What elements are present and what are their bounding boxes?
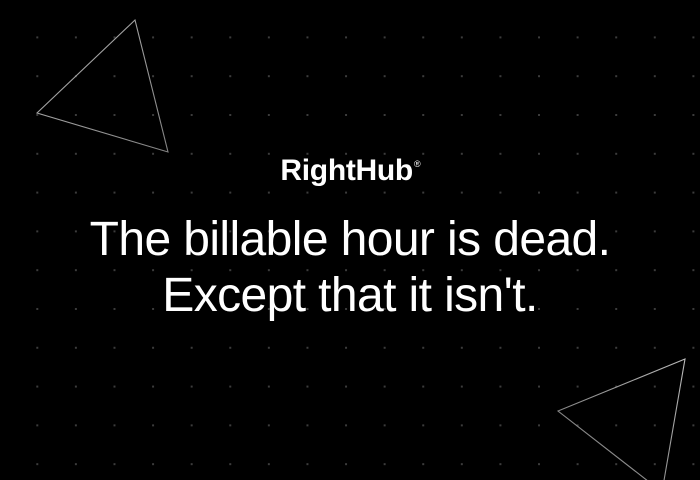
logo-wordmark: RightHub xyxy=(280,156,413,186)
registered-trademark-icon: ® xyxy=(414,160,421,169)
slide-canvas: RightHub® The billable hour is dead. Exc… xyxy=(0,0,700,480)
headline-line-2: Except that it isn't. xyxy=(90,268,611,324)
righthub-logo: RightHub® xyxy=(280,156,419,186)
headline-line-1: The billable hour is dead. xyxy=(90,212,611,268)
headline: The billable hour is dead. Except that i… xyxy=(90,212,611,323)
slide-content: RightHub® The billable hour is dead. Exc… xyxy=(0,0,700,480)
